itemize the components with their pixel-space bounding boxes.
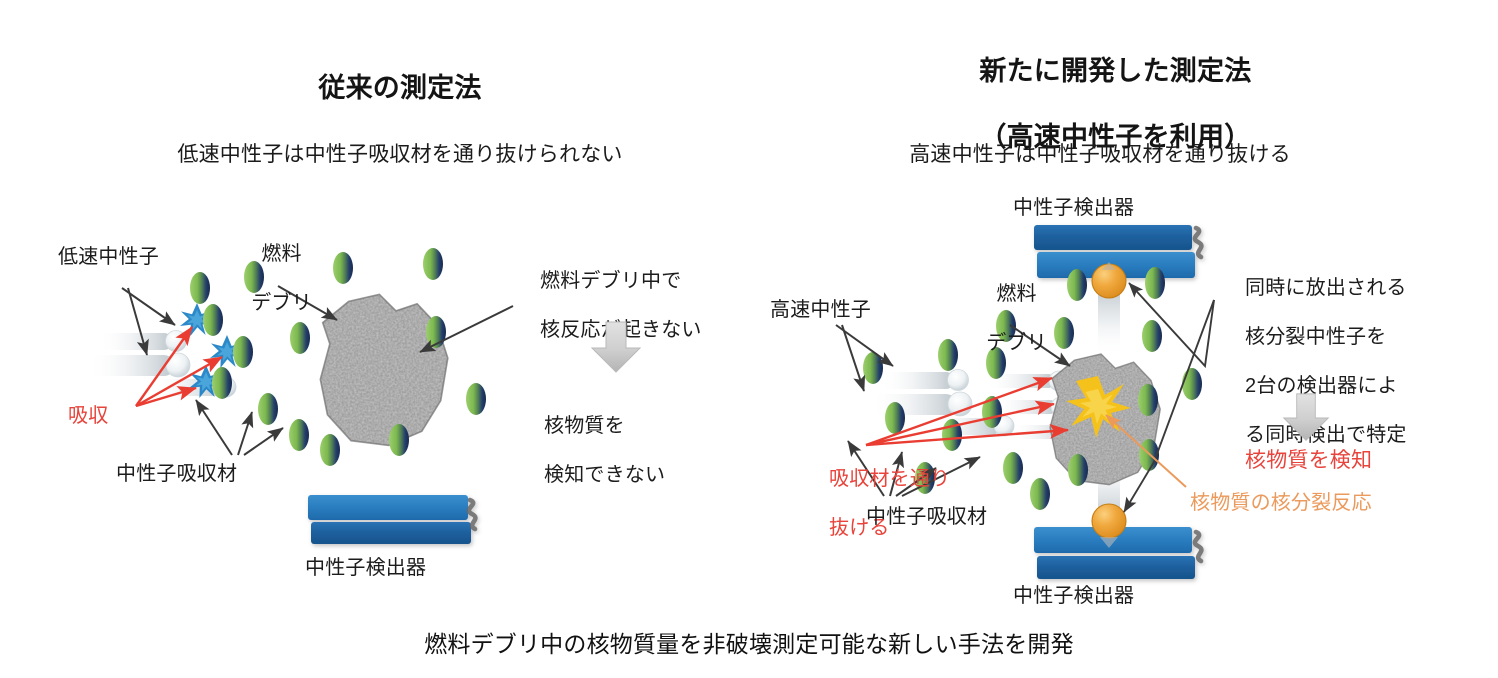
- label-neutron-absorber-right: 中性子吸収材: [866, 505, 987, 529]
- fuel-debris-blob: [320, 294, 447, 445]
- left-result-line2: 検知できない: [544, 464, 665, 486]
- neutron-detector-left: [308, 495, 475, 544]
- label-detector-left: 中性子検出器: [305, 556, 426, 580]
- label-fuel-debris-left: 燃料 デブリ: [215, 218, 325, 340]
- label-fission-reaction: 核物質の核分裂反応: [1190, 491, 1372, 515]
- left-panel-subtitle: 低速中性子は中性子吸収材を通り抜けられない: [105, 142, 695, 168]
- label-slow-neutron: 低速中性子: [58, 245, 159, 269]
- label-fuel-debris-right-line2: デブリ: [986, 332, 1047, 354]
- right-panel-subtitle: 高速中性子は中性子吸収材を通り抜ける: [845, 142, 1355, 168]
- label-fuel-debris-left-line2: デブリ: [251, 292, 312, 314]
- left-panel-title: 従来の測定法: [255, 72, 545, 105]
- figure-caption: 燃料デブリ中の核物質量を非破壊測定可能な新しい手法を開発: [249, 630, 1249, 658]
- label-detector-bottom: 中性子検出器: [1013, 584, 1134, 608]
- right-premise-line1: 同時に放出される: [1245, 277, 1407, 299]
- right-title-line1: 新たに開発した測定法: [979, 56, 1251, 86]
- left-result-line1: 核物質を: [544, 415, 625, 437]
- label-fuel-debris-right: 燃料 デブリ: [950, 258, 1060, 380]
- left-conclusion-result: 核物質を 検知できない: [521, 390, 665, 512]
- label-pass-through-line1: 吸収材を通り: [829, 468, 950, 490]
- diagram-canvas: 従来の測定法 低速中性子は中性子吸収材を通り抜けられない 低速中性子 燃料 デブ…: [0, 0, 1498, 678]
- coincidence-leader-top: [1129, 283, 1214, 366]
- label-absorb-event: 吸収: [68, 404, 108, 428]
- label-fuel-debris-right-line1: 燃料: [996, 283, 1036, 305]
- label-fuel-debris-left-line1: 燃料: [261, 243, 301, 265]
- right-conclusion-result: 核物質を検知: [1245, 448, 1372, 474]
- label-neutron-absorber-left: 中性子吸収材: [116, 462, 237, 486]
- label-detector-top: 中性子検出器: [1013, 196, 1134, 220]
- left-premise-line1: 燃料デブリ中で: [540, 270, 681, 292]
- label-pass-through: 吸収材を通り 抜ける: [806, 443, 950, 565]
- label-fast-neutron: 高速中性子: [770, 298, 871, 322]
- right-premise-line2: 核分裂中性子を: [1245, 326, 1386, 348]
